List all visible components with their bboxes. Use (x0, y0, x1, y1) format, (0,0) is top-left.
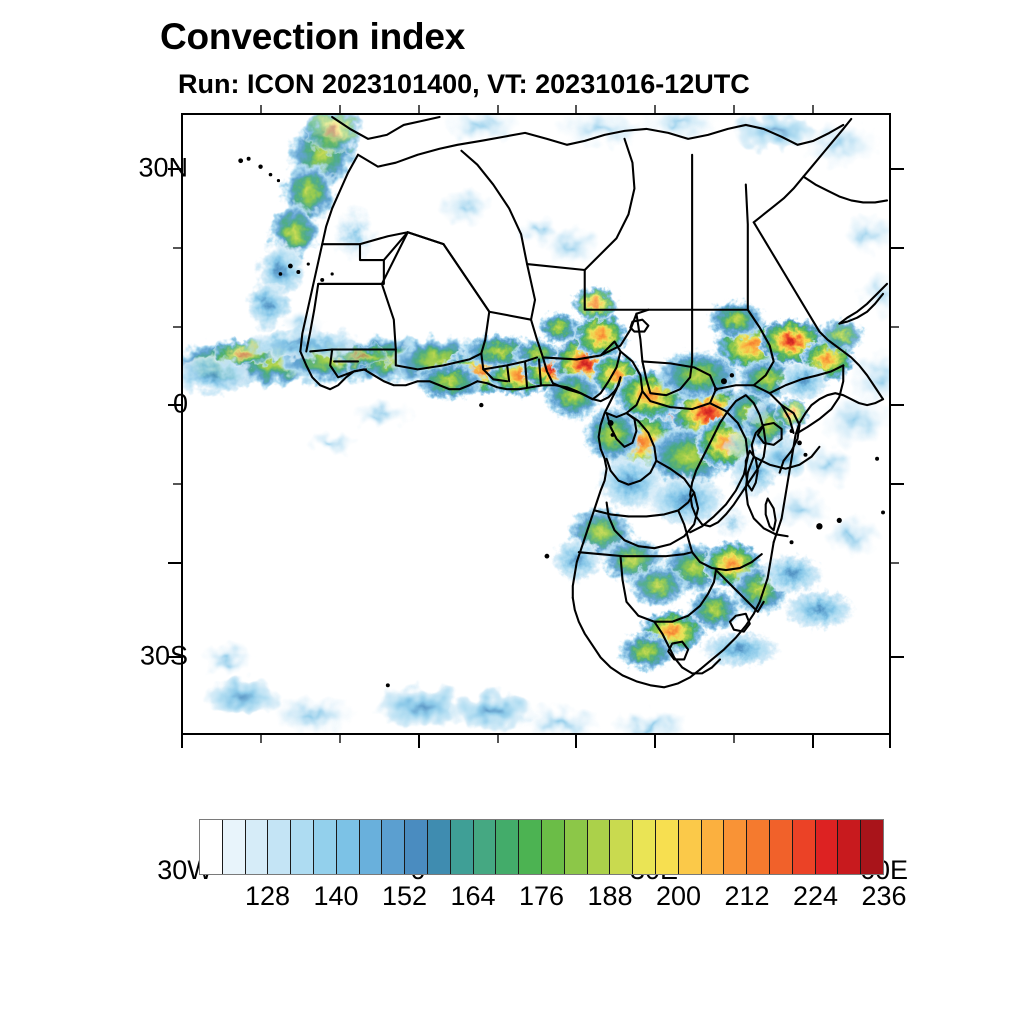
colorbar-tick-212: 212 (724, 881, 769, 912)
y-tick-10s (173, 483, 181, 485)
x-tick-20e (575, 735, 577, 748)
colorbar-cell-28 (838, 820, 861, 874)
y-tick-right-10s (891, 483, 904, 485)
colorbar-cell-12 (474, 820, 497, 874)
colorbar-cell-6 (337, 820, 360, 874)
colorbar-tick-224: 224 (793, 881, 838, 912)
colorbar-cell-19 (633, 820, 656, 874)
colorbar-cell-5 (314, 820, 337, 874)
colorbar-cell-1 (223, 820, 246, 874)
x-tick-top-20e (575, 105, 577, 113)
y-tick-right-30n (891, 168, 904, 170)
x-tick-30w (181, 735, 183, 748)
colorbar-cell-18 (610, 820, 633, 874)
run-info-subtitle: Run: ICON 2023101400, VT: 20231016-12UTC (178, 69, 750, 100)
colorbar-cell-10 (428, 820, 451, 874)
colorbar-cell-20 (656, 820, 679, 874)
colorbar-tick-236: 236 (861, 881, 906, 912)
map-frame (181, 113, 891, 735)
colorbar-cell-9 (405, 820, 428, 874)
colorbar-cell-25 (770, 820, 793, 874)
y-tick-20s (168, 562, 181, 564)
x-tick-60e (889, 735, 891, 748)
y-tick-20n (173, 247, 181, 249)
x-tick-top-50e (812, 105, 814, 113)
map-canvas (183, 115, 889, 733)
colorbar-tick-140: 140 (313, 881, 358, 912)
colorbar-cell-16 (565, 820, 588, 874)
y-axis-label-0: 0 (173, 389, 188, 420)
y-tick-right-20n (891, 247, 904, 249)
colorbar-cell-26 (793, 820, 816, 874)
colorbar-tick-188: 188 (587, 881, 632, 912)
colorbar-cell-7 (360, 820, 383, 874)
colorbar-cell-4 (291, 820, 314, 874)
x-tick-20w (260, 735, 262, 743)
colorbar-tick-128: 128 (245, 881, 290, 912)
colorbar: 128140152164176188200212224236 (199, 819, 884, 875)
y-tick-10n (173, 326, 181, 328)
x-tick-top-0 (418, 105, 420, 113)
colorbar-cell-3 (268, 820, 291, 874)
x-tick-30e (654, 735, 656, 748)
colorbar-cell-24 (747, 820, 770, 874)
y-tick-right-10n (891, 326, 899, 328)
colorbar-cell-17 (588, 820, 611, 874)
colorbar-cell-27 (816, 820, 839, 874)
colorbar-cell-13 (496, 820, 519, 874)
colorbar-tick-152: 152 (382, 881, 427, 912)
x-tick-0 (418, 735, 420, 748)
x-tick-40e (733, 735, 735, 743)
x-tick-top-30e (654, 105, 656, 113)
y-axis-label-30n: 30N (138, 153, 188, 184)
colorbar-cell-14 (519, 820, 542, 874)
colorbar-cell-2 (246, 820, 269, 874)
colorbar-cells[interactable] (199, 819, 884, 875)
y-axis-label-30s: 30S (140, 641, 188, 672)
colorbar-cell-22 (702, 820, 725, 874)
x-tick-50e (812, 735, 814, 748)
y-tick-right-0 (891, 404, 904, 406)
colorbar-tick-200: 200 (656, 881, 701, 912)
x-tick-10w (339, 735, 341, 743)
x-tick-top-20w (260, 105, 262, 113)
colorbar-tick-164: 164 (450, 881, 495, 912)
x-tick-top-40e (733, 105, 735, 113)
x-tick-10e (497, 735, 499, 743)
colorbar-cell-15 (542, 820, 565, 874)
x-tick-top-10w (339, 105, 341, 113)
map-plot-area: 30N 0 30S 30W 0 30E 60E (181, 113, 891, 735)
colorbar-cell-23 (724, 820, 747, 874)
y-tick-right-20s (891, 562, 899, 564)
colorbar-cell-29 (861, 820, 883, 874)
colorbar-cell-8 (382, 820, 405, 874)
colorbar-cell-0 (200, 820, 223, 874)
page-title: Convection index (160, 16, 465, 58)
colorbar-cell-11 (451, 820, 474, 874)
x-tick-top-10e (497, 105, 499, 113)
y-tick-right-30s (891, 656, 904, 658)
colorbar-cell-21 (679, 820, 702, 874)
colorbar-tick-176: 176 (519, 881, 564, 912)
